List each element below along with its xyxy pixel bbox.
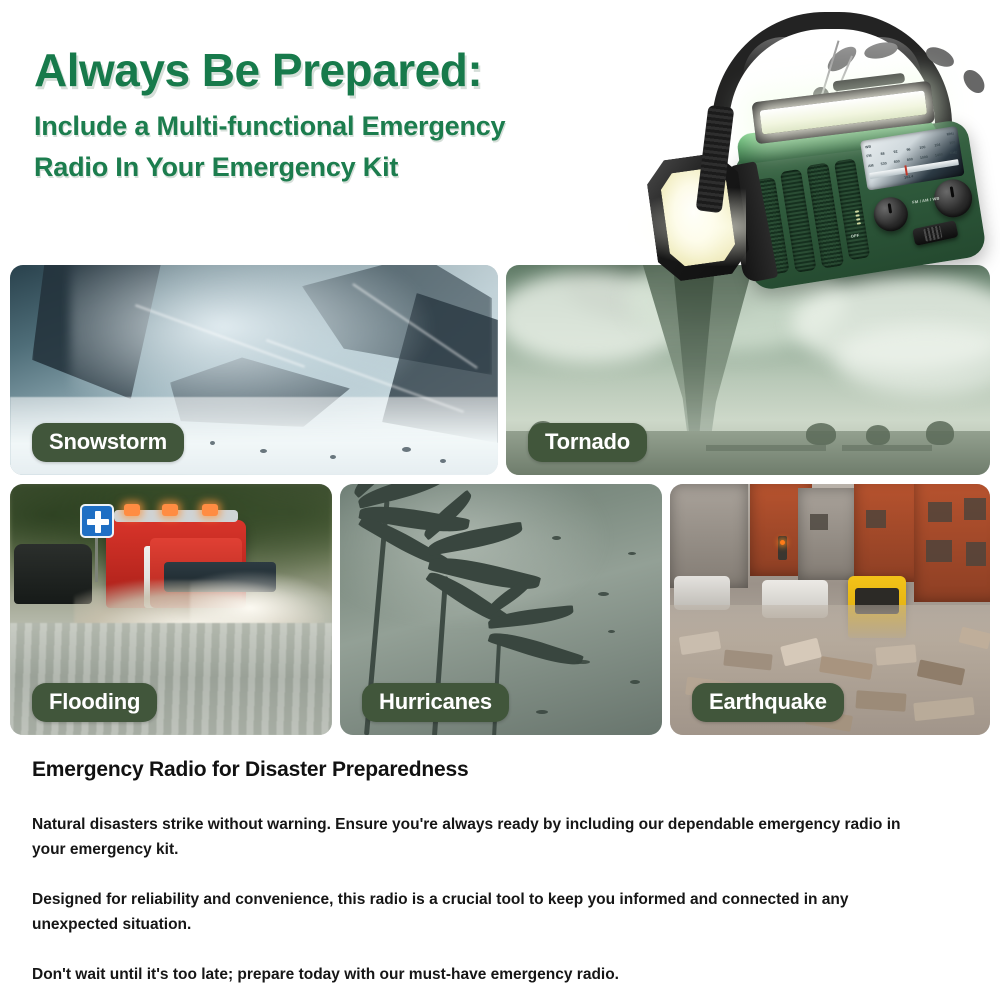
snow-debris xyxy=(402,447,411,452)
headline-line-3: Radio In Your Emergency Kit xyxy=(34,147,654,188)
dial-fm-tick: 96 xyxy=(906,147,911,152)
flashlight-lens xyxy=(659,166,737,268)
battery-led xyxy=(855,214,859,217)
wind-debris xyxy=(598,592,609,596)
disaster-card-flooding[interactable]: Flooding xyxy=(10,484,332,735)
disaster-card-hurricanes[interactable]: Hurricanes xyxy=(340,484,662,735)
wind-debris xyxy=(576,660,590,664)
emergency-light xyxy=(162,504,178,516)
dial-band-wb: WB xyxy=(865,145,872,150)
dial-label-fm: FM xyxy=(866,154,872,159)
battery-led xyxy=(856,218,860,221)
description-paragraph-2: Designed for reliability and convenience… xyxy=(32,887,937,937)
headline-block: Always Be Prepared: Include a Multi-func… xyxy=(34,46,654,188)
headline-line-1: Always Be Prepared: xyxy=(34,46,654,96)
building-window xyxy=(866,510,886,528)
dial-am-tick: 1000 xyxy=(920,155,929,160)
tornado-building-row xyxy=(842,445,932,451)
building-window xyxy=(964,498,986,520)
snow-debris xyxy=(260,449,267,453)
handle-hole-icon xyxy=(923,43,957,71)
snow-debris xyxy=(330,455,336,459)
section-heading: Emergency Radio for Disaster Preparednes… xyxy=(32,758,968,782)
disaster-card-snowstorm[interactable]: Snowstorm xyxy=(10,265,498,475)
wind-debris xyxy=(552,536,561,540)
rubble-chunk xyxy=(855,690,906,711)
tornado-tree xyxy=(806,423,836,445)
battery-led xyxy=(855,210,859,213)
product-image-emergency-radio: WB MHz FM 88 92 96 100 104 108 AM 530 60… xyxy=(646,8,1000,358)
wind-debris xyxy=(630,680,640,684)
hospital-sign-icon xyxy=(80,504,114,538)
dial-am-tick: 530 xyxy=(880,161,887,166)
wind-debris xyxy=(608,630,615,633)
traffic-signal xyxy=(778,536,787,560)
dial-fm-tick: 104 xyxy=(934,143,941,148)
emergency-light xyxy=(202,504,218,516)
card-label-snowstorm: Snowstorm xyxy=(32,423,184,463)
card-label-earthquake: Earthquake xyxy=(692,683,844,723)
wind-debris xyxy=(628,552,636,555)
dial-fm-tick: 92 xyxy=(893,149,898,154)
dial-fm-tick: 108 xyxy=(949,140,956,145)
card-label-tornado: Tornado xyxy=(528,423,647,463)
dial-am-tick: 800 xyxy=(907,157,914,162)
snow-debris xyxy=(440,459,446,463)
building-window xyxy=(810,514,828,530)
front-flashlight xyxy=(644,150,752,284)
dial-am-unit: KHz xyxy=(950,150,958,155)
description-paragraph-1: Natural disasters strike without warning… xyxy=(32,812,937,862)
emergency-light xyxy=(124,504,140,516)
wind-debris xyxy=(536,710,548,714)
damaged-building xyxy=(798,488,858,580)
tornado-tree xyxy=(866,425,890,445)
card-label-flooding: Flooding xyxy=(32,683,157,723)
radio-body: WB MHz FM 88 92 96 100 104 108 AM 530 60… xyxy=(733,118,988,291)
tornado-tree xyxy=(926,421,954,445)
dial-label-am: AM xyxy=(868,163,874,168)
description-section: Emergency Radio for Disaster Preparednes… xyxy=(32,758,968,988)
building-window xyxy=(928,502,952,522)
card-label-hurricanes: Hurricanes xyxy=(362,683,509,723)
dial-fm-tick: 100 xyxy=(919,145,926,150)
description-paragraph-3: Don't wait until it's too late; prepare … xyxy=(32,962,937,987)
dial-unit-mhz: MHz xyxy=(946,131,954,136)
disaster-card-earthquake[interactable]: Earthquake xyxy=(670,484,990,735)
dial-am-tick: 1400 xyxy=(935,152,944,157)
dial-tuned-frequency: 102.4 xyxy=(904,174,914,179)
road-sign-post xyxy=(95,536,98,582)
tornado-building-row xyxy=(706,445,826,451)
dial-am-tick: 600 xyxy=(893,159,900,164)
dial-fm-tick: 88 xyxy=(880,152,885,157)
handle-hole-icon xyxy=(959,66,988,97)
building-window xyxy=(966,542,986,566)
building-window xyxy=(926,540,952,562)
headline-line-2: Include a Multi-functional Emergency xyxy=(34,106,654,147)
handle-hole-icon xyxy=(863,40,899,62)
rubble-chunk xyxy=(875,644,916,665)
damaged-building xyxy=(670,484,748,588)
snow-debris xyxy=(210,441,215,445)
